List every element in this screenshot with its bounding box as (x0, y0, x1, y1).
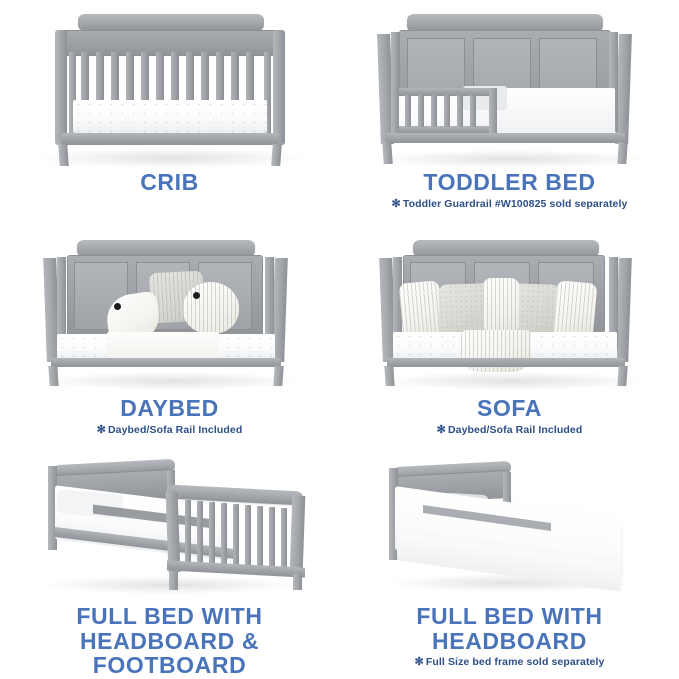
config-title: SOFA (340, 396, 679, 421)
leg (169, 572, 178, 590)
moon-pillow (183, 282, 239, 334)
crest-rail (78, 14, 264, 31)
full-bed-hb-fb-illustration (15, 452, 325, 602)
floor-shadow (377, 150, 647, 168)
leg (271, 144, 282, 166)
asterisk-icon: ✻ (392, 198, 401, 210)
guardrail-slat (431, 95, 437, 127)
bottom-rail (387, 358, 625, 367)
product-conversion-chart: CRIB (0, 0, 679, 679)
config-subtitle-text: Full Size bed frame sold separately (426, 656, 605, 668)
config-card-toddler-bed: TODDLER BED ✻Toddler Guardrail #W100825 … (340, 0, 679, 226)
throw-pillow-back (483, 278, 519, 332)
leg (293, 574, 302, 590)
footboard-slat (197, 501, 203, 567)
floor-shadow (41, 372, 303, 390)
toddler-bed-illustration (355, 0, 665, 168)
left-post (55, 30, 67, 145)
front-rail (61, 133, 279, 145)
asterisk-icon: ✻ (437, 424, 446, 436)
config-card-full-bed-headboard-footboard: FULL BED WITH HEADBOARD & FOOTBOARD ✻Ful… (0, 452, 339, 679)
guardrail-slat (470, 95, 476, 127)
config-card-full-bed-headboard: FULL BED WITH HEADBOARD ✻Full Size bed f… (340, 452, 679, 679)
leg (58, 144, 69, 166)
guardrail-slat (405, 95, 411, 127)
config-subtitle: ✻Toddler Guardrail #W100825 sold separat… (340, 198, 679, 211)
guardrail-slat (418, 95, 424, 127)
config-subtitle: ✻Daybed/Sofa Rail Included (340, 424, 679, 437)
mattress (73, 100, 267, 133)
footboard-right-post (289, 496, 305, 572)
leg (617, 142, 628, 164)
leg (384, 366, 394, 386)
leg (382, 142, 393, 164)
leg (48, 366, 58, 386)
caption-full-bed-headboard: FULL BED WITH HEADBOARD ✻Full Size bed f… (340, 604, 679, 669)
caption-sofa: SOFA ✻Daybed/Sofa Rail Included (340, 396, 679, 436)
throw-pillow-striped (398, 280, 443, 339)
guardrail-right-post (489, 88, 497, 134)
caption-daybed: DAYBED ✻Daybed/Sofa Rail Included (0, 396, 339, 436)
footboard-slat (185, 500, 191, 566)
config-card-daybed: DAYBED ✻Daybed/Sofa Rail Included (0, 226, 339, 452)
footboard-slat (281, 508, 287, 574)
sofa-illustration (355, 226, 665, 394)
guardrail-left-post (391, 88, 399, 134)
config-card-crib: CRIB (0, 0, 339, 226)
floor-shadow (37, 148, 307, 168)
config-title: FULL BED WITH HEADBOARD (340, 604, 679, 653)
config-subtitle-text: Daybed/Sofa Rail Included (448, 424, 582, 436)
config-subtitle-text: Daybed/Sofa Rail Included (108, 424, 242, 436)
full-bed-hb-illustration (355, 452, 665, 602)
mattress-center (107, 332, 219, 360)
right-post (273, 30, 285, 145)
guardrail-slat (444, 95, 450, 127)
footboard-slat (257, 506, 263, 572)
config-title: TODDLER BED (340, 170, 679, 195)
leg (617, 366, 627, 386)
footboard-slat (233, 504, 239, 570)
config-card-sofa: SOFA ✻Daybed/Sofa Rail Included (340, 226, 679, 452)
footboard-slat (269, 507, 275, 573)
asterisk-icon: ✻ (415, 656, 424, 668)
floor-shadow (379, 372, 645, 390)
config-title: CRIB (0, 170, 339, 195)
guardrail-slat (457, 95, 463, 127)
asterisk-icon: ✻ (97, 424, 106, 436)
leg (273, 366, 283, 386)
throw-pillow-striped (552, 280, 597, 339)
star-pillow-eye (114, 303, 121, 310)
bottom-rail (51, 358, 281, 367)
bottom-rail (385, 133, 625, 143)
caption-crib: CRIB (0, 170, 339, 195)
headboard-right-post (503, 472, 511, 504)
footboard-slat (209, 502, 215, 568)
config-title: DAYBED (0, 396, 339, 421)
caption-toddler-bed: TODDLER BED ✻Toddler Guardrail #W100825 … (340, 170, 679, 210)
footboard-slat (221, 503, 227, 569)
config-subtitle-text: Toddler Guardrail #W100825 sold separate… (403, 198, 628, 210)
moon-pillow-eye (193, 292, 200, 299)
config-subtitle: ✻Daybed/Sofa Rail Included (0, 424, 339, 437)
config-subtitle: ✻Full Size bed frame sold separately (340, 656, 679, 669)
footboard-slat (245, 505, 251, 571)
caption-full-bed-headboard-footboard: FULL BED WITH HEADBOARD & FOOTBOARD ✻Ful… (0, 604, 339, 679)
daybed-illustration (15, 226, 325, 394)
config-title: FULL BED WITH HEADBOARD & FOOTBOARD (0, 604, 339, 678)
crib-illustration (15, 0, 325, 168)
